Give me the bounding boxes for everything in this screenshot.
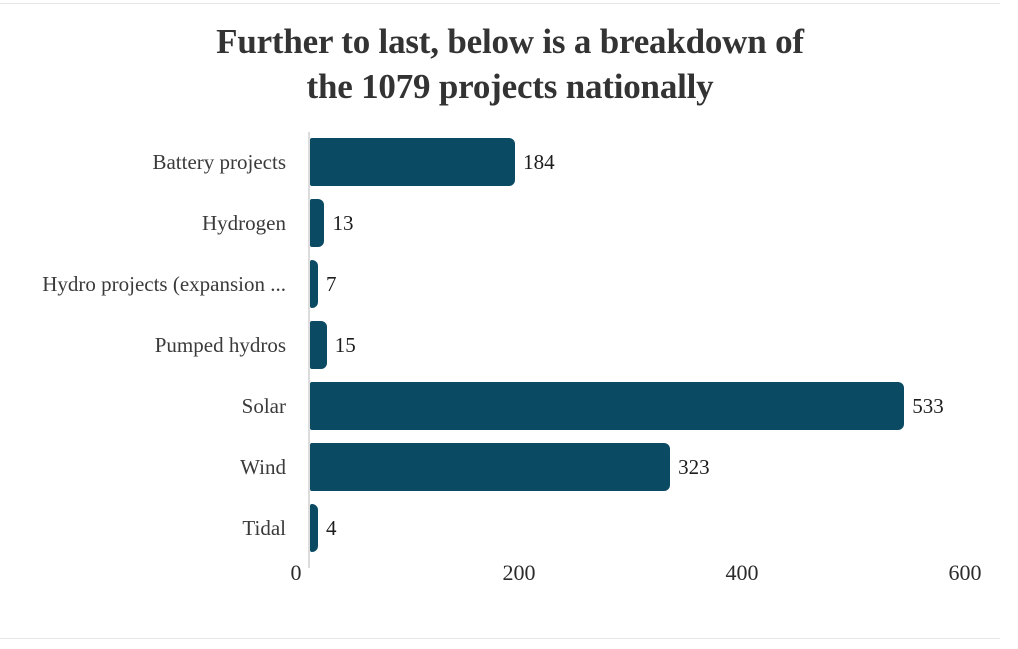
category-label: Pumped hydros: [155, 315, 286, 376]
category-label: Hydrogen: [202, 193, 286, 254]
top-divider: [0, 3, 1000, 4]
bar-value-label: 323: [678, 437, 710, 498]
x-axis-tick-label: 600: [949, 560, 982, 586]
x-axis-tick-label: 0: [291, 560, 302, 586]
chart-screenshot: Further to last, below is a breakdown of…: [0, 0, 1018, 649]
x-axis-tick-label: 200: [503, 560, 536, 586]
bottom-divider: [0, 638, 1000, 639]
bar-value-label: 184: [523, 132, 555, 193]
bar[interactable]: [310, 199, 324, 247]
bar-value-label: 15: [335, 315, 356, 376]
bar-value-label: 533: [912, 376, 944, 437]
bar[interactable]: [310, 321, 327, 369]
category-label: Battery projects: [152, 132, 286, 193]
bar-row: Battery projects184: [0, 132, 1000, 193]
category-label: Tidal: [242, 498, 286, 559]
bar-row: Solar533: [0, 376, 1000, 437]
category-label: Solar: [242, 376, 286, 437]
bar-value-label: 4: [326, 498, 337, 559]
bar[interactable]: [310, 504, 318, 552]
bar-row: Wind323: [0, 437, 1000, 498]
chart-title-line-1: Further to last, below is a breakdown of: [60, 20, 960, 65]
bar[interactable]: [310, 382, 904, 430]
bar-row: Pumped hydros15: [0, 315, 1000, 376]
chart-title-line-2: the 1079 projects nationally: [60, 65, 960, 110]
bar-row: Tidal4: [0, 498, 1000, 559]
category-label: Wind: [240, 437, 286, 498]
chart-title: Further to last, below is a breakdown of…: [60, 20, 960, 110]
plot-area: Battery projects184Hydrogen13Hydro proje…: [0, 132, 1000, 572]
scrollbar-track[interactable]: [1000, 0, 1018, 649]
x-axis-tick-label: 400: [726, 560, 759, 586]
bar[interactable]: [310, 443, 670, 491]
bar[interactable]: [310, 138, 515, 186]
x-axis: 0200400600: [0, 560, 1000, 600]
category-label: Hydro projects (expansion ...: [42, 254, 286, 315]
bar-row: Hydrogen13: [0, 193, 1000, 254]
bar-value-label: 7: [326, 254, 337, 315]
bar-row: Hydro projects (expansion ...7: [0, 254, 1000, 315]
bar-value-label: 13: [332, 193, 353, 254]
bar[interactable]: [310, 260, 318, 308]
